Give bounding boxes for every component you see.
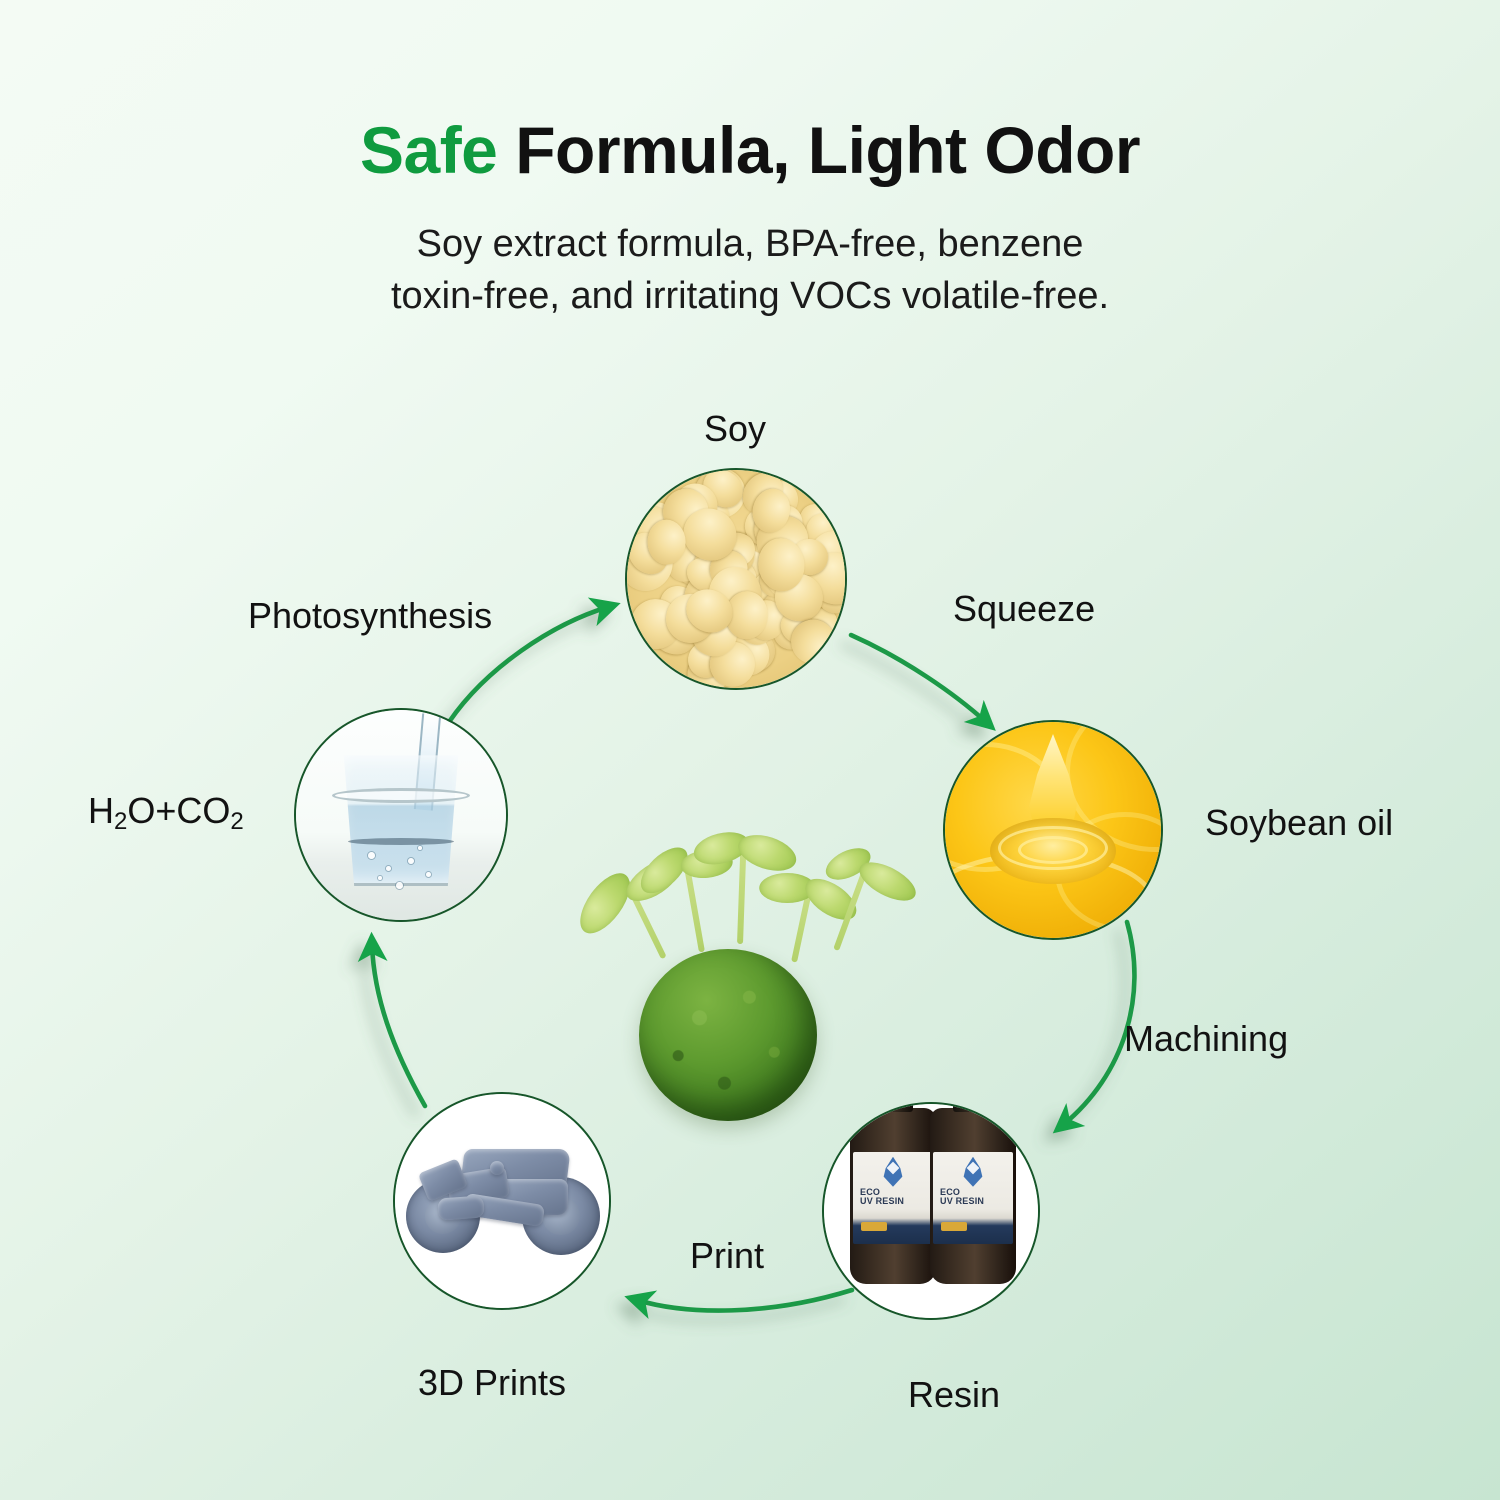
infographic-canvas: Safe Formula, Light Odor Soy extract for… (0, 0, 1500, 1500)
h2o-sub: 2 (114, 808, 127, 835)
arrow-squeeze (851, 635, 986, 722)
co2-sub: 2 (230, 808, 243, 835)
node-3d-prints[interactable] (393, 1092, 611, 1310)
arrow-recycle (372, 945, 425, 1106)
step-label-print: Print (690, 1235, 764, 1277)
step-label-photosynthesis: Photosynthesis (248, 595, 492, 637)
soybeans-photo (627, 470, 845, 688)
arrow-print (637, 1290, 852, 1311)
water-glass-photo (296, 710, 506, 920)
node-label-3d-prints: 3D Prints (418, 1362, 566, 1404)
oil-droplet-photo (945, 722, 1161, 938)
node-label-resin: Resin (908, 1374, 1000, 1416)
step-label-machining: Machining (1124, 1018, 1288, 1060)
step-label-squeeze: Squeeze (953, 588, 1095, 630)
bottle-brand-line-2: UV RESIN (860, 1196, 904, 1206)
node-water[interactable] (294, 708, 508, 922)
node-label-soybean-oil: Soybean oil (1205, 802, 1393, 844)
node-label-h2o-co2: H2O+CO2 (88, 790, 244, 836)
node-soy[interactable] (625, 468, 847, 690)
node-soybean-oil[interactable] (943, 720, 1163, 940)
h2o-o-co: O+CO (127, 790, 230, 831)
motorcycle-model (404, 1145, 600, 1257)
3d-printed-motorcycle-photo (395, 1094, 609, 1308)
soybean (647, 519, 686, 565)
h2o-h: H (88, 790, 114, 831)
resin-bottles-photo: ECO UV RESIN ECO UV RESIN (824, 1104, 1038, 1318)
node-resin[interactable]: ECO UV RESIN ECO UV RESIN (822, 1102, 1040, 1320)
node-label-soy: Soy (704, 408, 766, 450)
bottle-brand-line-2: UV RESIN (940, 1196, 984, 1206)
